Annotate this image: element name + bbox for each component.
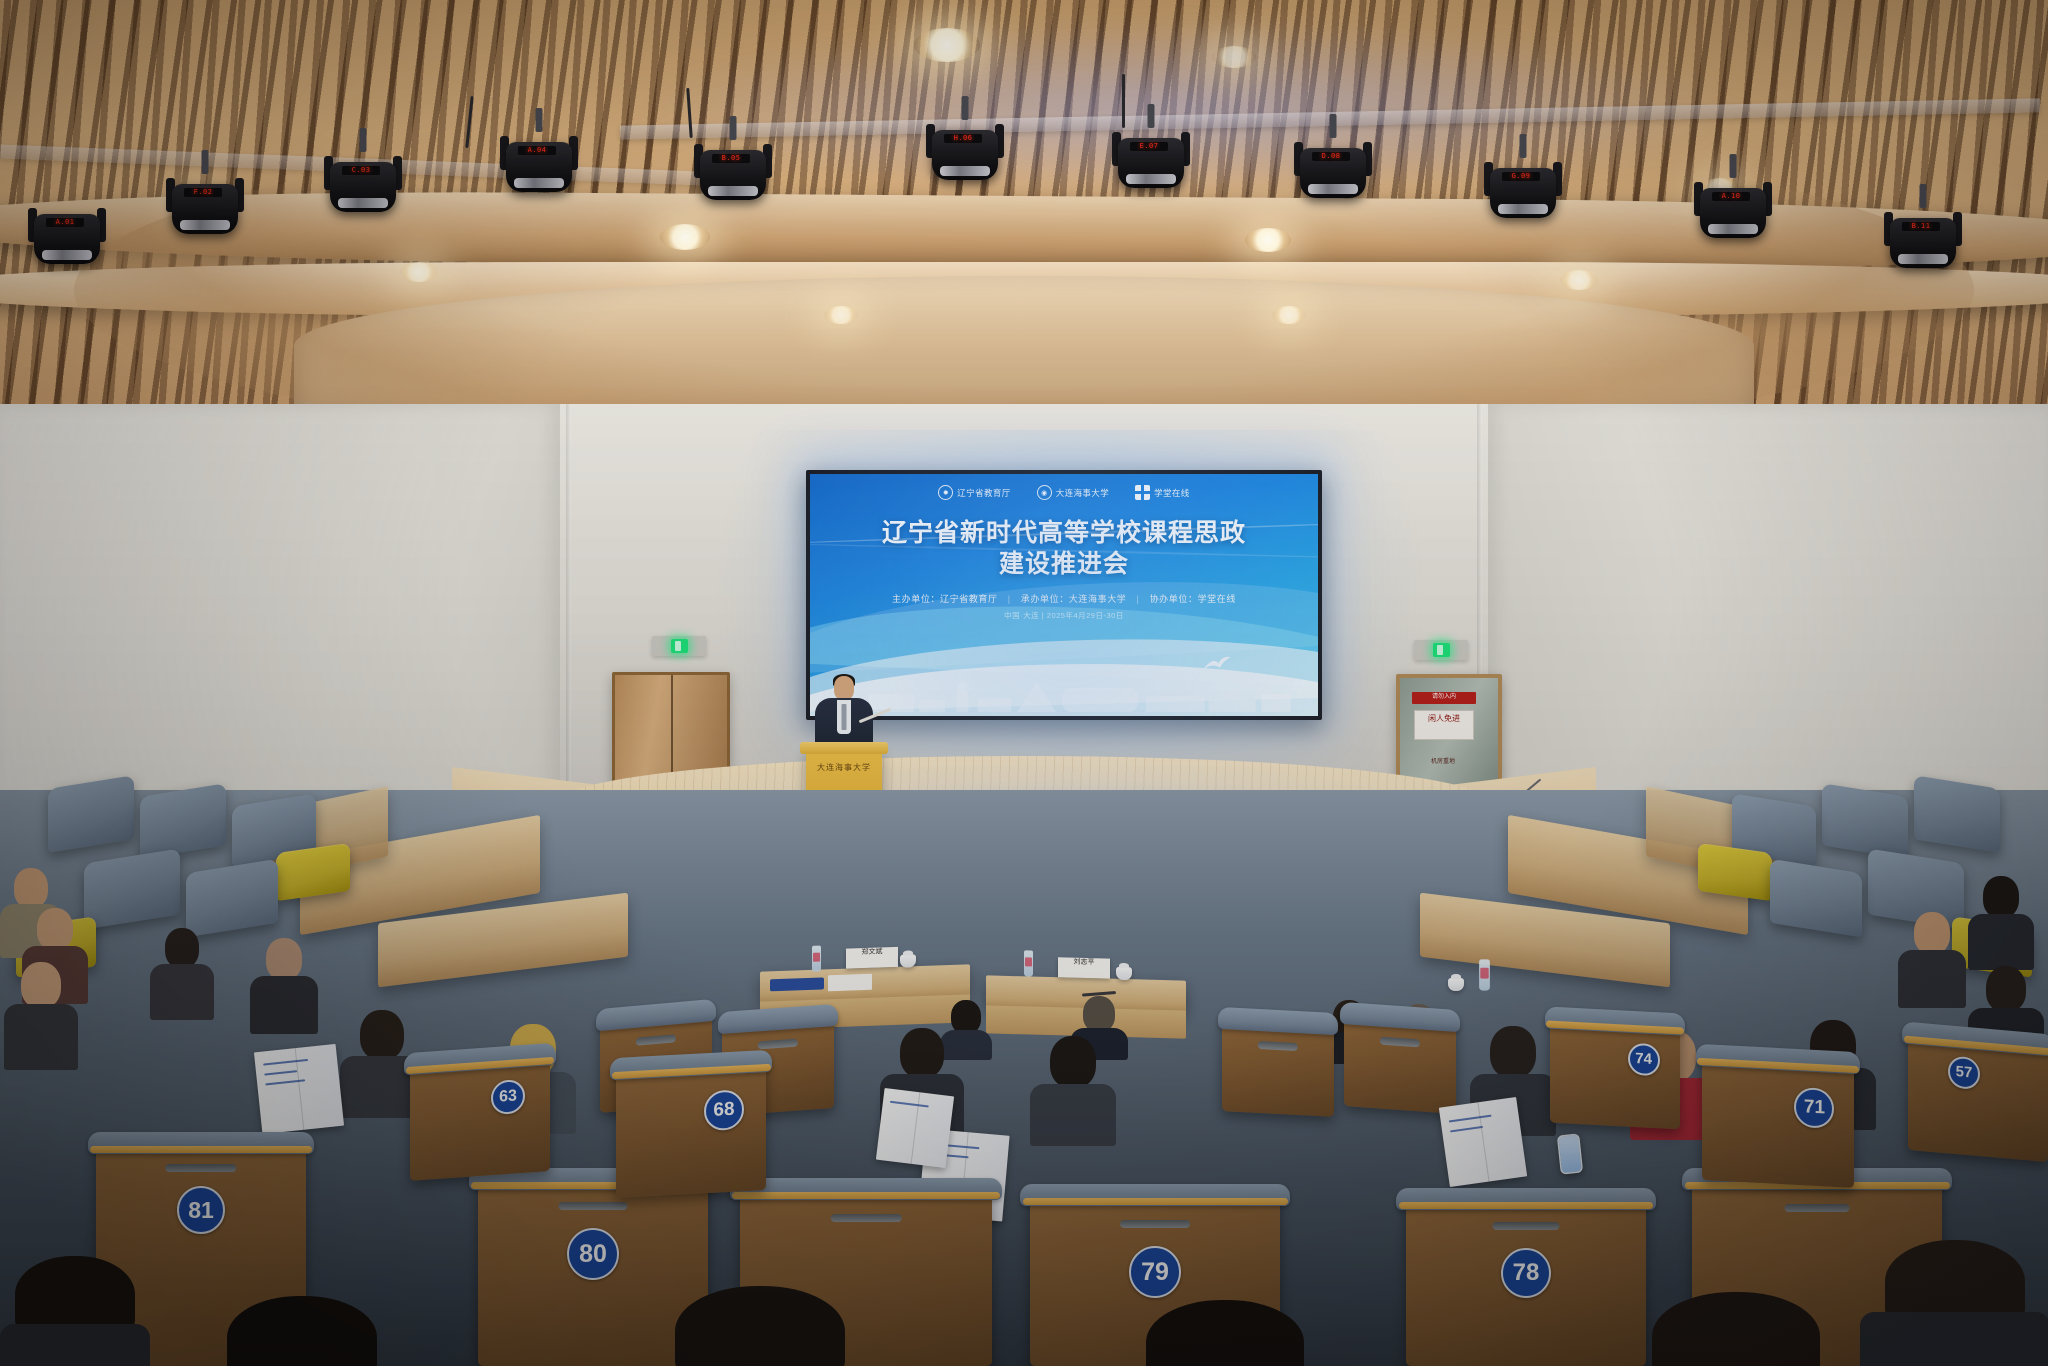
seat-63[interactable]: 63 [410,1051,550,1181]
exit-sign-left [652,636,706,656]
spotlight-head: B.05 [700,150,766,200]
attendee-head [675,1286,845,1366]
spotlight-led-display: B.05 [712,154,750,163]
attendee-body [150,964,214,1020]
spotlight-head: A.04 [506,142,572,192]
attendee-body [1968,914,2034,970]
screen-title: 辽宁省新时代高等学校课程思政 建设推进会 [810,518,1318,580]
seat-trim [732,1192,999,1199]
spotlight-led-display: A.01 [46,218,84,227]
attendee-body [4,1004,78,1070]
spotlight-led-display: C.03 [342,166,380,175]
seat-row-a[interactable] [1344,1010,1456,1114]
seat-slot [831,1214,902,1222]
light-cable [1122,74,1125,128]
seat-number-badge: 79 [1129,1246,1181,1298]
spotlight-yoke [1520,134,1527,158]
seat-number-badge: 63 [491,1079,525,1115]
spotlight-lens [1126,174,1176,184]
ceiling-downlight [824,306,858,324]
screen-title-line1: 辽宁省新时代高等学校课程思政 [810,518,1318,549]
attendee-right-edge [1898,912,1966,1008]
spotlight-lens [940,166,990,176]
attendee-foreground [1636,1292,1836,1366]
screen-title-line2: 建设推进会 [810,549,1318,580]
attendee-foreground [1860,1240,2048,1366]
logo-label: 学堂在线 [1154,487,1190,499]
spotlight-lens [1708,224,1758,234]
water-bottle [1479,959,1490,990]
attendee-head [1050,1036,1096,1088]
water-bottle [812,946,821,972]
spotlight-led-display: H.06 [944,134,982,143]
attendee-right-edge [1968,876,2034,970]
spotlight-yoke [1148,104,1155,128]
name-card: 郑文斌 [846,947,898,969]
stage-spotlight: E.07 [1118,124,1184,202]
seat-74[interactable]: 74 [1550,1015,1680,1130]
seat-number-badge: 74 [1628,1043,1660,1077]
spotlight-yoke [360,128,367,152]
attendee-head [1652,1292,1820,1366]
attendee [150,928,214,1020]
presenter-head [834,676,854,700]
stage-spotlight: C.03 [330,148,396,226]
seat-number-badge: 78 [1501,1248,1551,1298]
spotlight-led-display: E.07 [1130,142,1168,151]
seat-slot [165,1164,236,1172]
podium-institution-label: 大连海事大学 [806,762,882,773]
spotlight-head: G.09 [1490,168,1556,218]
spotlight-led-display: A.04 [518,146,556,155]
four-square-icon [1135,485,1150,500]
spotlight-head: A.10 [1700,188,1766,238]
wall-panel-left [0,404,560,824]
seat-slot [1120,1220,1190,1228]
logo-liaoning-education-dept: ✹ 辽宁省教育厅 [938,485,1010,500]
booklet-line [263,1059,308,1066]
bird-graphic [1202,654,1232,672]
spotlight-led-display: A.10 [1712,192,1750,201]
spotlight-lens [1898,254,1948,264]
attendee-head [1083,996,1115,1032]
seat-row-a[interactable] [1222,1015,1334,1117]
seat-number-badge: 80 [567,1228,619,1280]
screen-logo-row: ✹ 辽宁省教育厅 ◉ 大连海事大学 学堂在线 [810,485,1318,500]
spotlight-head: H.06 [932,130,998,180]
teacup [900,954,916,968]
attendee-body [0,1324,150,1366]
spotlight-led-display: B.11 [1902,222,1940,231]
spotlight-lens [42,250,92,260]
wall-panel-right [1488,404,2048,824]
ceiling-downlight [400,262,438,282]
running-man-exit-icon [1433,643,1450,657]
attendee-left-edge [4,962,78,1070]
attendee-body [250,976,318,1034]
program-booklet [1439,1097,1527,1187]
seat-57[interactable]: 57 [1908,1030,2048,1162]
seat-78[interactable]: 78 [1406,1196,1646,1366]
stage-spotlight: D.08 [1300,134,1366,212]
seat-trim [90,1146,313,1153]
teacup [1448,978,1464,991]
attendee [250,938,318,1034]
program-booklet [254,1044,344,1134]
attendee-foreground [1130,1300,1320,1366]
spotlight-head: C.03 [330,162,396,212]
notepad [770,977,824,991]
stage-spotlight: A.10 [1700,174,1766,252]
seat-empty-yellow[interactable] [1698,843,1772,901]
spotlight-head: E.07 [1118,138,1184,188]
ceiling-downlight [914,28,980,62]
spotlight-yoke [536,108,543,132]
ceiling-downlight [1272,306,1306,324]
seat-trim [1399,1202,1653,1209]
ceiling-downlight [1245,228,1291,252]
ceiling-downlight [1560,270,1598,290]
logo-dalian-maritime-university: ◉ 大连海事大学 [1037,485,1109,500]
seat-71[interactable]: 71 [1702,1052,1854,1188]
booklet-line [890,1101,928,1108]
presenter-lanyard [842,704,847,730]
seat-slot [1380,1037,1420,1048]
seat-slot [559,1202,628,1210]
stage-spotlight: F.02 [172,170,238,248]
spotlight-yoke [730,116,737,140]
spotlight-lens [708,186,758,196]
attendee-head [165,928,199,968]
led-screen[interactable]: ✹ 辽宁省教育厅 ◉ 大连海事大学 学堂在线 辽宁省新时代高等学校课程思政 建设… [806,470,1322,720]
attendee-foreground [212,1296,392,1366]
attendee-body [1860,1312,2048,1366]
paper-sheet [828,974,872,992]
seat-slot [636,1034,676,1046]
stage-spotlight: G.09 [1490,154,1556,232]
spotlight-head: D.08 [1300,148,1366,198]
seat-slot [758,1039,798,1050]
attendee-body [1030,1084,1116,1146]
spotlight-lens [180,220,230,230]
spotlight-led-display: D.08 [1312,152,1350,161]
led-screen-content: ✹ 辽宁省教育厅 ◉ 大连海事大学 学堂在线 辽宁省新时代高等学校课程思政 建设… [810,474,1318,716]
spotlight-led-display: F.02 [184,188,222,197]
attendee-head [360,1010,404,1060]
logo-label: 大连海事大学 [1056,487,1109,499]
door-notice-sign: 闲人免进 [1414,710,1474,740]
podium-top [800,742,888,754]
circular-emblem-icon: ✹ [938,485,953,500]
seat-number-badge: 68 [704,1089,744,1131]
ceiling-downlight [1212,46,1256,68]
attendee-head [1986,966,2026,1012]
logo-xuetangonline: 学堂在线 [1135,485,1190,500]
seat-number-badge: 71 [1794,1087,1834,1129]
stage-spotlight: A.04 [506,128,572,206]
logo-label: 辽宁省教育厅 [957,487,1010,499]
stage-spotlight: A.01 [34,200,100,278]
attendee-head [14,868,48,908]
ceiling-downlight [660,224,710,250]
spotlight-yoke [962,96,969,120]
attendee-head [227,1296,377,1366]
stage-spotlight: H.06 [932,116,998,194]
seat-slot [1785,1204,1850,1212]
attendee-foreground [0,1256,150,1366]
name-card: 刘志平 [1058,957,1110,978]
exit-sign-right [1414,640,1468,660]
spotlight-lens [514,178,564,188]
attendee-head [266,938,302,980]
front-table-left: 郑文斌 [760,964,970,1003]
attendee-head [1983,876,2019,918]
attendee-head [1914,912,1950,954]
wall-seam-left [566,404,571,824]
door-notice-sub: 机房重地 [1418,756,1468,770]
seat-empty[interactable] [48,775,134,853]
attendee-head [1146,1300,1304,1366]
seat-slot [1492,1222,1559,1230]
seat-empty[interactable] [1914,775,2000,853]
seat-68[interactable]: 68 [616,1058,766,1198]
attendee-head [1490,1026,1536,1078]
spotlight-yoke [202,150,209,174]
running-man-exit-icon [671,639,688,653]
attendee [1030,1036,1116,1146]
spotlight-head: F.02 [172,184,238,234]
seat-number-badge: 57 [1948,1055,1980,1090]
attendee-head [37,908,73,950]
seat-slot [1258,1041,1298,1051]
spotlight-head: B.11 [1890,218,1956,268]
stage-spotlight: B.05 [700,136,766,214]
auditorium-scene: A.01 F.02 C.03 A.04 B.05 H.06 E.07 D.08 [0,0,2048,1366]
smartphone[interactable] [1557,1133,1583,1174]
water-bottle [1024,950,1033,976]
spotlight-yoke [1920,184,1927,208]
university-seal-icon: ◉ [1037,485,1052,500]
spotlight-led-display: G.09 [1502,172,1540,181]
spotlight-lens [338,198,388,208]
spotlight-yoke [1330,114,1337,138]
attendee-head [900,1028,944,1078]
spotlight-lens [1308,184,1358,194]
stage-spotlight: B.11 [1890,204,1956,282]
booklet-line [264,1070,297,1075]
seat-trim [1023,1198,1288,1205]
spotlight-head: A.01 [34,214,100,264]
booklet-line [1450,1126,1483,1133]
teacup [1116,967,1132,980]
door-red-banner: 请勿入内 [1412,692,1476,704]
seat-number-badge: 81 [177,1186,225,1234]
spotlight-lens [1498,204,1548,214]
attendee-body [1898,950,1966,1008]
attendee-head [21,962,61,1008]
attendee-foreground [660,1286,860,1366]
spotlight-yoke [1730,154,1737,178]
program-booklet [876,1088,954,1168]
booklet-line [1448,1115,1491,1123]
